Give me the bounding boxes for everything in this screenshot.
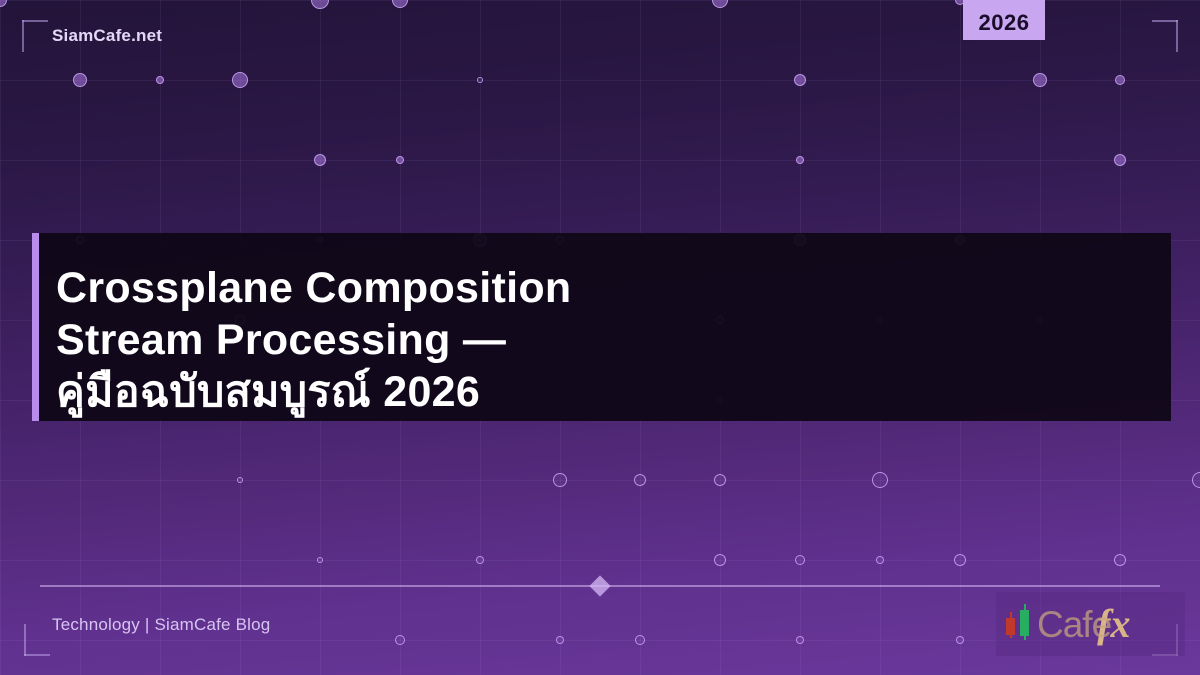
decor-dot	[477, 77, 483, 83]
bracket-line-horizontal	[22, 20, 48, 22]
bracket-line-horizontal	[1152, 20, 1178, 22]
decor-dot	[0, 0, 7, 7]
decor-dot	[396, 156, 404, 164]
footer-meta: Technology | SiamCafe Blog	[52, 615, 270, 635]
decor-dot	[1033, 73, 1047, 87]
decor-dot	[956, 636, 964, 644]
decor-dot	[1192, 472, 1200, 488]
decor-dot	[796, 156, 804, 164]
decor-dot	[1114, 154, 1126, 166]
decor-dot	[796, 636, 804, 644]
bracket-line-vertical	[1176, 20, 1178, 52]
title-accent-bar	[32, 233, 39, 421]
site-name: SiamCafe.net	[52, 26, 162, 46]
decor-dot	[311, 0, 329, 9]
decor-dot	[476, 556, 484, 564]
decor-dot	[232, 72, 248, 88]
page-title: Crossplane Composition Stream Processing…	[56, 262, 1146, 418]
decor-dot	[556, 636, 564, 644]
decor-dot	[1115, 75, 1125, 85]
corner-bracket-top-right	[1152, 20, 1178, 52]
decor-dot	[635, 635, 645, 645]
decor-dot	[395, 635, 405, 645]
decor-dot	[73, 73, 87, 87]
bracket-line-horizontal	[24, 654, 50, 656]
decor-dot	[237, 477, 243, 483]
decor-dot	[314, 154, 326, 166]
decor-dot	[794, 74, 806, 86]
decor-dot	[317, 557, 323, 563]
decor-dot	[553, 473, 567, 487]
decor-dot	[954, 554, 966, 566]
hero-banner: SiamCafe.net 2026 Crossplane Composition…	[0, 0, 1200, 675]
candle-down	[1006, 604, 1015, 644]
corner-bracket-top-left	[22, 20, 48, 52]
candle-up	[1020, 604, 1029, 644]
decor-dot	[876, 556, 884, 564]
corner-bracket-bottom-left	[24, 624, 50, 656]
decor-dot	[712, 0, 728, 8]
decor-dot	[872, 472, 888, 488]
bracket-line-vertical	[22, 20, 24, 52]
year-badge: 2026	[963, 0, 1045, 40]
decor-dot	[156, 76, 164, 84]
decor-dot	[714, 554, 726, 566]
logo-word: Cafe	[1037, 606, 1111, 643]
candle-body	[1020, 610, 1029, 636]
icafefx-logo[interactable]: Cafe fx	[996, 592, 1185, 656]
decor-dot	[714, 474, 726, 486]
divider-diamond-icon	[589, 575, 610, 596]
decor-dot	[634, 474, 646, 486]
decor-dot	[795, 555, 805, 565]
candle-body	[1006, 618, 1015, 635]
decor-dot	[392, 0, 408, 8]
candlestick-icon	[1006, 604, 1040, 644]
decor-dot	[1114, 554, 1126, 566]
bracket-line-vertical	[24, 624, 26, 656]
